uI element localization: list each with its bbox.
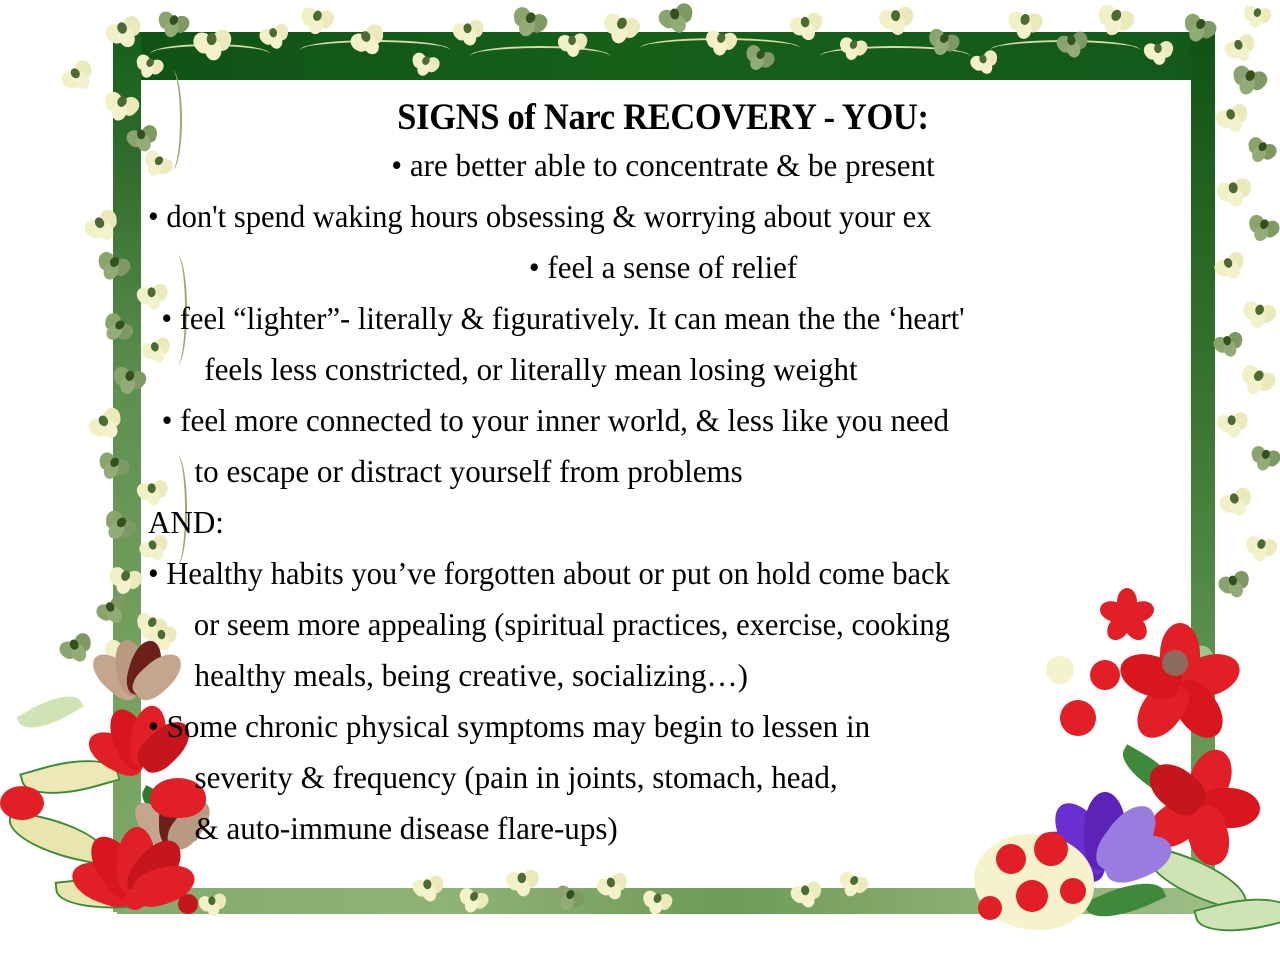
leaf-shape bbox=[55, 870, 168, 915]
ivy-leaf-icon bbox=[56, 629, 98, 669]
ivy-leaf-icon bbox=[57, 56, 100, 99]
ivy-leaf-icon bbox=[740, 41, 777, 77]
ivy-leaf-icon bbox=[93, 248, 134, 287]
ivy-leaf-icon bbox=[600, 9, 642, 48]
flower-red-floret bbox=[124, 888, 146, 910]
ivy-leaf-icon bbox=[84, 403, 129, 447]
ivy-leaf-icon bbox=[878, 3, 917, 38]
leaf-shape bbox=[1139, 844, 1255, 914]
ivy-leaf-icon bbox=[557, 31, 588, 59]
slide-canvas: SIGNS of Narc RECOVERY - YOU: • are bett… bbox=[0, 0, 1280, 960]
leaf-shape bbox=[19, 747, 121, 806]
flower-red-floret bbox=[1016, 880, 1048, 912]
ivy-leaf-icon bbox=[1248, 443, 1280, 475]
ivy-leaf-icon bbox=[508, 3, 551, 44]
ivy-stem bbox=[1272, 70, 1280, 190]
ivy-leaf-icon bbox=[455, 884, 490, 917]
ivy-leaf-icon bbox=[93, 592, 133, 631]
ivy-stem bbox=[640, 38, 800, 58]
section-label: AND: bbox=[148, 497, 1147, 548]
bullet-line: • Healthy habits you’ve forgotten about … bbox=[148, 548, 1132, 599]
bullet-line: to escape or distract yourself from prob… bbox=[148, 446, 1147, 497]
ivy-leaf-icon bbox=[81, 205, 126, 249]
ivy-leaf-icon bbox=[101, 88, 142, 126]
frame-band-left bbox=[113, 32, 141, 912]
ivy-leaf-icon bbox=[97, 309, 138, 349]
ivy-leaf-icon bbox=[132, 51, 166, 83]
ivy-leaf-icon bbox=[1211, 248, 1251, 287]
ivy-leaf-icon bbox=[257, 20, 292, 53]
ivy-leaf-icon bbox=[968, 47, 1002, 79]
ivy-leaf-icon bbox=[1211, 328, 1246, 361]
bullet-line: • are better able to concentrate & be pr… bbox=[163, 140, 1162, 191]
frame-band-top bbox=[117, 32, 1215, 80]
ivy-leaf-icon bbox=[1216, 409, 1251, 441]
ivy-leaf-icon bbox=[98, 506, 141, 548]
bullet-line: or seem more appealing (spiritual practi… bbox=[148, 599, 1132, 650]
ivy-leaf-icon bbox=[1216, 483, 1258, 523]
ivy-leaf-icon bbox=[1244, 533, 1279, 565]
ivy-stem bbox=[1272, 510, 1280, 630]
bullet-line: • feel more connected to your inner worl… bbox=[148, 395, 1147, 446]
flower-red-bud bbox=[0, 786, 44, 820]
ivy-leaf-icon bbox=[102, 11, 148, 55]
ivy-leaf-icon bbox=[1178, 9, 1219, 48]
ivy-leaf-icon bbox=[1055, 28, 1091, 62]
ivy-leaf-icon bbox=[347, 20, 391, 63]
ivy-leaf-icon bbox=[1240, 298, 1278, 333]
ivy-leaf-icon bbox=[640, 888, 674, 919]
bullet-line: • feel “lighter”- literally & figurative… bbox=[148, 293, 1132, 344]
ivy-leaf-icon bbox=[1242, 3, 1273, 31]
ivy-leaf-icon bbox=[299, 4, 336, 38]
slide-text-content: SIGNS of Narc RECOVERY - YOU: • are bett… bbox=[148, 96, 1178, 854]
ivy-leaf-icon bbox=[451, 17, 487, 50]
ivy-leaf-icon bbox=[835, 868, 871, 902]
ivy-leaf-icon bbox=[101, 636, 142, 674]
ivy-stem bbox=[820, 46, 970, 66]
ivy-stem bbox=[300, 40, 450, 60]
ivy-leaf-icon bbox=[837, 34, 869, 63]
flower-red-floret bbox=[148, 872, 166, 890]
flower-red-floret bbox=[178, 894, 198, 914]
leaf-shape bbox=[16, 686, 83, 739]
page-title: SIGNS of Narc RECOVERY - YOU: bbox=[184, 96, 1142, 140]
ivy-leaf-icon bbox=[192, 26, 234, 64]
bullet-line: severity & frequency (pain in joints, st… bbox=[148, 752, 1147, 803]
ivy-leaf-icon bbox=[411, 872, 447, 906]
ivy-stem bbox=[150, 44, 270, 64]
ivy-leaf-icon bbox=[1007, 8, 1044, 41]
flower-red-floret bbox=[1060, 878, 1086, 904]
ivy-stem bbox=[990, 40, 1140, 60]
ivy-leaf-icon bbox=[155, 8, 192, 42]
leaf-shape bbox=[1084, 871, 1167, 928]
ivy-leaf-icon bbox=[1221, 30, 1260, 68]
ivy-leaf-icon bbox=[1213, 100, 1254, 139]
bullet-line: feels less constricted, or literally mea… bbox=[148, 344, 1147, 395]
ivy-leaf-icon bbox=[1235, 360, 1278, 401]
bullet-line: & auto-immune disease flare-ups) bbox=[148, 803, 1147, 854]
bullet-line: • don't spend waking hours obsessing & w… bbox=[148, 191, 1132, 242]
ivy-leaf-icon bbox=[408, 49, 441, 80]
bullet-line: healthy meals, being creative, socializi… bbox=[148, 650, 1147, 701]
ivy-stem bbox=[470, 46, 610, 66]
flower-red-floret bbox=[978, 896, 1002, 920]
ivy-leaf-icon bbox=[106, 564, 144, 599]
ivy-leaf-icon bbox=[1244, 211, 1280, 247]
ivy-leaf-icon bbox=[1215, 174, 1255, 211]
frame-band-bottom bbox=[117, 888, 1215, 914]
ivy-leaf-icon bbox=[789, 878, 826, 912]
ivy-leaf-icon bbox=[505, 867, 541, 900]
leaf-shape bbox=[3, 810, 112, 867]
ivy-leaf-icon bbox=[1242, 133, 1279, 169]
ivy-leaf-icon bbox=[656, 0, 698, 39]
ivy-leaf-icon bbox=[704, 28, 738, 59]
ivy-leaf-icon bbox=[1143, 38, 1175, 67]
ivy-leaf-icon bbox=[198, 891, 229, 919]
ivy-leaf-icon bbox=[594, 869, 632, 905]
ivy-leaf-icon bbox=[1216, 567, 1254, 603]
ivy-leaf-icon bbox=[788, 9, 827, 45]
bullet-line: • Some chronic physical symptoms may beg… bbox=[148, 701, 1147, 752]
bullet-line: • feel a sense of relief bbox=[163, 242, 1162, 293]
ivy-leaf-icon bbox=[1093, 1, 1137, 42]
ivy-leaf-icon bbox=[94, 448, 133, 485]
ivy-leaf-icon bbox=[924, 25, 962, 61]
leaf-shape bbox=[1193, 887, 1280, 943]
ivy-leaf-icon bbox=[110, 363, 148, 398]
ivy-leaf-icon bbox=[1228, 61, 1270, 100]
ivy-leaf-icon bbox=[551, 882, 587, 916]
frame-band-right bbox=[1191, 32, 1215, 912]
